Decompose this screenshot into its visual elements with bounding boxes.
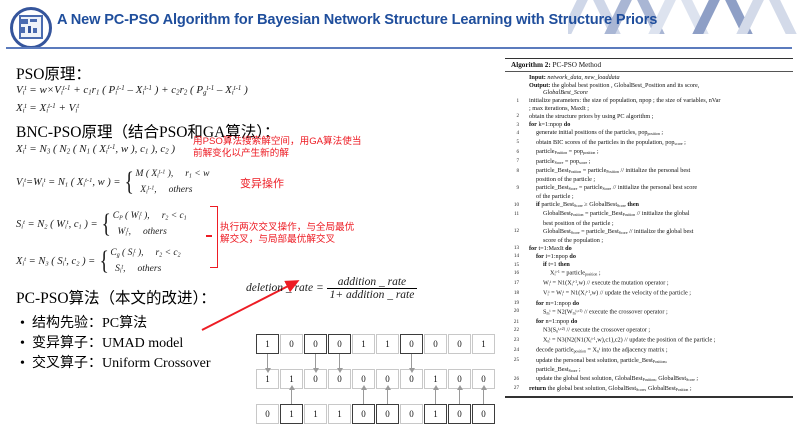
bullet-crossover-operator-label: 交叉算子：Uniform Crossover bbox=[32, 356, 211, 371]
algorithm-line-text: return the global best solution, GlobalB… bbox=[522, 385, 790, 394]
bullet-marker: • bbox=[20, 336, 32, 352]
algorithm-line-text: decode particleposition = Xnt into the a… bbox=[522, 346, 790, 356]
algorithm-line-number: 24 bbox=[508, 346, 522, 354]
algorithm-line: 16Xit-1 = particleposition ; bbox=[508, 269, 790, 279]
bullet-mutation-operator: •变异算子：UMAD model bbox=[20, 332, 183, 352]
algorithm-line-text: obtain BIC scores of the particles in th… bbox=[522, 139, 790, 148]
slide-canvas: A New PC-PSO Algorithm for Bayesian Netw… bbox=[0, 0, 798, 436]
algorithm-line-text: particle_BestScore = particleScore // in… bbox=[522, 184, 790, 193]
algorithm-output-row: Output: the global best position , Globa… bbox=[508, 82, 790, 90]
output-label: Output: bbox=[529, 82, 550, 89]
algorithm-line: 23Xnt = N3(N2(N1(Xit-1,w),c1),c2) // upd… bbox=[508, 336, 790, 346]
annotation-pso-ga-line1: 用PSO算法搜索解空间，用GA算法使当 bbox=[193, 136, 361, 147]
algorithm-line-number: 1 bbox=[508, 97, 522, 105]
algorithm-line: 18Vit = Wit = N1(Xit-1,w) // update the … bbox=[508, 289, 790, 299]
algorithm-line-number bbox=[508, 193, 522, 194]
fraction-numerator: addition _ rate bbox=[327, 276, 418, 288]
algorithm-line-number: 6 bbox=[508, 148, 522, 156]
bit-arrow-down-icon bbox=[339, 354, 340, 369]
bnc-pso-formula: Xit = N3 ( N2 ( N1 ( Xit-1, w ), c1 ), c… bbox=[16, 143, 175, 156]
bit-cell: 0 bbox=[424, 334, 447, 354]
algorithm-line-text: position of the particle ; bbox=[522, 176, 790, 184]
algorithm-line-text: particle_BestPosition = particlePosition… bbox=[522, 167, 790, 176]
bit-cell: 0 bbox=[280, 334, 303, 354]
bit-cell: 0 bbox=[352, 404, 375, 424]
algorithm-title-label: Algorithm 2: bbox=[511, 61, 551, 69]
bit-row-top: 1000110001 bbox=[256, 334, 496, 354]
algorithm-line: 20Smt = N2(Wmt,c1) // execute the crosso… bbox=[508, 308, 790, 318]
algorithm-line-text: for n=1:npop do bbox=[522, 318, 790, 326]
algorithm-line-text: Xnt = N3(N2(N1(Xit-1,w),c1),c2) // updat… bbox=[522, 336, 790, 346]
bit-arrow-up-icon bbox=[435, 389, 436, 404]
bit-row-bottom: 0111000100 bbox=[256, 404, 496, 424]
bit-cell: 1 bbox=[256, 334, 279, 354]
algorithm-line-number: 7 bbox=[508, 158, 522, 166]
algorithm-line-number: 5 bbox=[508, 139, 522, 147]
algorithm-line: 2obtain the structure priors by using PC… bbox=[508, 113, 790, 121]
algorithm-line: best position of the particle ; bbox=[508, 220, 790, 228]
algorithm-line-text: if particle_BestScore ≥ GlobalBestScore … bbox=[522, 201, 790, 210]
algorithm-line-text: particlePosition = popposition ; bbox=[522, 148, 790, 157]
algorithm-line-number: 4 bbox=[508, 129, 522, 137]
algorithm-line: particle_BestScore ; bbox=[508, 366, 790, 375]
output-text: the global best position , GlobalBest_Po… bbox=[550, 82, 699, 89]
algorithm-line-number: 26 bbox=[508, 375, 522, 383]
algorithm-line: 4generate initial positions of the parti… bbox=[508, 129, 790, 138]
algorithm-line-text: Wit = N1(Xit-1,w) // execute the mutatio… bbox=[522, 279, 790, 289]
bit-arrow-up-icon bbox=[363, 389, 364, 404]
bit-cell: 0 bbox=[376, 404, 399, 424]
pso-heading: PSO原理： bbox=[16, 62, 91, 84]
algorithm-line-text: if t=1 then bbox=[522, 261, 790, 269]
bit-cell: 0 bbox=[472, 404, 495, 424]
algorithm-line-text: Smt = N2(Wmt,c1) // execute the crossove… bbox=[522, 308, 790, 318]
pso-velocity-formula: Vit = w×Vit-1 + c1r1 ( Pit-1 – Xit-1 ) +… bbox=[16, 84, 248, 97]
annotation-crossover: 执行两次交叉操作，与全局最优 解交叉，与局部最优解交叉 bbox=[220, 222, 354, 246]
algorithm-line-number: 11 bbox=[508, 210, 522, 218]
bit-cell: 1 bbox=[376, 334, 399, 354]
bullet-structure-prior: •结构先验：PC算法 bbox=[20, 312, 147, 332]
crossover-personal-piecewise-formula: Sit = N2 ( Wit, c1 ) = { CP ( Wit ),r2 <… bbox=[16, 208, 187, 241]
algorithm-line: 25update the personal best solution, par… bbox=[508, 357, 790, 366]
bit-cell: 0 bbox=[448, 404, 471, 424]
algorithm-line: position of the particle ; bbox=[508, 176, 790, 184]
annotation-crossover-line1: 执行两次交叉操作，与全局最优 bbox=[220, 222, 354, 233]
algorithm-title-text: PC-PSO Method bbox=[551, 61, 601, 69]
algorithm-line-text: for m=1:npop do bbox=[522, 300, 790, 308]
algorithm-line-text: for i=1:npop do bbox=[522, 253, 790, 261]
algorithm-line: 11GlobalBestPosition = particle_BestPosi… bbox=[508, 210, 790, 219]
algorithm-line-number: 12 bbox=[508, 228, 522, 236]
algorithm-line-text: score of the population ; bbox=[522, 237, 790, 245]
algorithm-line-number: 9 bbox=[508, 184, 522, 192]
algorithm-line: 7particleScore = popscore ; bbox=[508, 158, 790, 167]
bit-arrow-up-icon bbox=[291, 389, 292, 404]
algorithm-line-number: 23 bbox=[508, 336, 522, 344]
bullet-crossover-operator: •交叉算子：Uniform Crossover bbox=[20, 352, 211, 372]
mutation-piecewise-formula: Vit=Wit = N1 ( Xit-1, w ) = { M ( Xit-1 … bbox=[16, 166, 209, 199]
algorithm-line-text: particleScore = popscore ; bbox=[522, 158, 790, 167]
algorithm-line: 17Wit = N1(Xit-1,w) // execute the mutat… bbox=[508, 279, 790, 289]
algorithm-line-number: 18 bbox=[508, 289, 522, 297]
bit-cell: 1 bbox=[304, 404, 327, 424]
bit-arrow-up-icon bbox=[459, 389, 460, 404]
algorithm-line-number: 19 bbox=[508, 300, 522, 308]
algorithm-line: 3for k=1:npop do bbox=[508, 121, 790, 129]
algorithm-line-number: 8 bbox=[508, 167, 522, 175]
algorithm-line: 1initialize parameters: the size of popu… bbox=[508, 97, 790, 105]
header-divider bbox=[6, 47, 792, 49]
algorithm-line-number: 25 bbox=[508, 357, 522, 365]
algorithm-line-number: 14 bbox=[508, 253, 522, 261]
algorithm-line-text: Vit = Wit = N1(Xit-1,w) // update the ve… bbox=[522, 289, 790, 299]
bullet-mutation-operator-label: 变异算子：UMAD model bbox=[32, 336, 183, 351]
algorithm-line-text: for t=1:MaxIt do bbox=[522, 245, 790, 253]
bit-cell: 1 bbox=[280, 404, 303, 424]
algorithm-line: 19for m=1:npop do bbox=[508, 300, 790, 308]
bit-cell: 0 bbox=[448, 334, 471, 354]
algorithm-line: 8particle_BestPosition = particlePositio… bbox=[508, 167, 790, 176]
algorithm-line: 15if t=1 then bbox=[508, 261, 790, 269]
algorithm-line: 22N3(Snt,c2) // execute the crossover op… bbox=[508, 326, 790, 336]
algorithm-line-text: best position of the particle ; bbox=[522, 220, 790, 228]
algorithm-line-text: generate initial positions of the partic… bbox=[522, 129, 790, 138]
algorithm-line-text: particle_BestScore ; bbox=[522, 366, 790, 375]
institution-logo-icon bbox=[10, 7, 50, 47]
algorithm-line: 9particle_BestScore = particleScore // i… bbox=[508, 184, 790, 193]
algorithm-line-text: update the global best solution, GlobalB… bbox=[522, 375, 790, 384]
bit-cell: 0 bbox=[256, 404, 279, 424]
algorithm-line: 26update the global best solution, Globa… bbox=[508, 375, 790, 384]
grouping-brace-tick bbox=[206, 235, 212, 237]
algorithm-line: 21for n=1:npop do bbox=[508, 318, 790, 326]
algorithm-line: 27return the global best solution, Globa… bbox=[508, 385, 790, 394]
slide-header: A New PC-PSO Algorithm for Bayesian Netw… bbox=[0, 0, 798, 48]
algorithm-line-number: 13 bbox=[508, 245, 522, 253]
bit-cell: 0 bbox=[328, 334, 351, 354]
grouping-brace bbox=[210, 206, 218, 268]
bit-cell: 1 bbox=[352, 334, 375, 354]
algorithm-line: score of the population ; bbox=[508, 237, 790, 245]
deletion-rate-fraction: addition _ rate 1+ addition _ rate bbox=[327, 276, 418, 301]
page-title: A New PC-PSO Algorithm for Bayesian Netw… bbox=[57, 12, 657, 28]
deletion-rate-lhs: deletion _ rate = bbox=[246, 282, 324, 294]
algorithm-line: 24decode particleposition = Xnt into the… bbox=[508, 346, 790, 356]
algorithm-line-text: initialize parameters: the size of popul… bbox=[522, 97, 790, 105]
algorithm-line-number: 17 bbox=[508, 279, 522, 287]
algorithm-line: of the particle ; bbox=[508, 193, 790, 201]
bit-arrow-up-icon bbox=[387, 389, 388, 404]
bit-arrow-down-icon bbox=[411, 354, 412, 369]
algorithm-line-number bbox=[508, 366, 522, 367]
bullet-structure-prior-label: 结构先验：PC算法 bbox=[32, 316, 147, 331]
algorithm-line-text: for k=1:npop do bbox=[522, 121, 790, 129]
algorithm-line-number: 27 bbox=[508, 385, 522, 393]
algorithm-line: 6particlePosition = popposition ; bbox=[508, 148, 790, 157]
bullet-marker: • bbox=[20, 356, 32, 372]
algorithm-box: Algorithm 2: PC-PSO Method Input: networ… bbox=[505, 58, 793, 433]
algorithm-line-text: obtain the structure priors by using PC … bbox=[522, 113, 790, 121]
algorithm-body: Input: network_data, new_loaddata Output… bbox=[505, 72, 793, 394]
algorithm-line-number: 2 bbox=[508, 113, 522, 121]
algorithm-line-text: ; max iterations, MaxIt ; bbox=[522, 105, 790, 113]
algo-bottom-rule bbox=[505, 396, 793, 397]
algorithm-line-number bbox=[508, 237, 522, 238]
algorithm-line-text: GlobalBestPosition = particle_BestPositi… bbox=[522, 210, 790, 219]
algorithm-line-text: update the personal best solution, parti… bbox=[522, 357, 790, 366]
algorithm-line-text: of the particle ; bbox=[522, 193, 790, 201]
fraction-denominator: 1+ addition _ rate bbox=[327, 288, 418, 301]
algorithm-line-number: 15 bbox=[508, 261, 522, 269]
crossover-global-piecewise-formula: Xit = N3 ( Sit, c2 ) = { Cg ( Sit ),r2 <… bbox=[16, 245, 181, 278]
annotation-pso-ga: 用PSO算法搜索解空间，用GA算法使当 前解变化以产生新的解 bbox=[193, 136, 361, 160]
bit-cell: 0 bbox=[400, 334, 423, 354]
bit-cell: 0 bbox=[400, 404, 423, 424]
algorithm-input-row: Input: network_data, new_loaddata bbox=[508, 74, 790, 82]
algorithm-line-number: 22 bbox=[508, 326, 522, 334]
pso-position-formula: Xit = Xit-1 + Vit bbox=[16, 102, 79, 115]
algorithm-line-number: 16 bbox=[508, 269, 522, 277]
bit-cell: 1 bbox=[328, 404, 351, 424]
algorithm-line-number bbox=[508, 176, 522, 177]
algorithm-line: 12GlobalBestScore = particle_BestScore /… bbox=[508, 228, 790, 237]
algorithm-line-text: N3(Snt,c2) // execute the crossover oper… bbox=[522, 326, 790, 336]
pc-pso-heading: PC-PSO算法（本文的改进）： bbox=[16, 286, 216, 308]
annotation-crossover-line2: 解交叉，与局部最优解交叉 bbox=[220, 234, 335, 245]
algorithm-line-number: 21 bbox=[508, 318, 522, 326]
deletion-rate-formula: deletion _ rate = addition _ rate 1+ add… bbox=[246, 276, 417, 301]
algorithm-output-row-2: GlobalBest_Score bbox=[508, 89, 790, 97]
algorithm-line-text: GlobalBestScore = particle_BestScore // … bbox=[522, 228, 790, 237]
algorithm-line: 14for i=1:npop do bbox=[508, 253, 790, 261]
bullet-marker: • bbox=[20, 316, 32, 332]
algorithm-line-number: 10 bbox=[508, 201, 522, 209]
output-text-2: GlobalBest_Score bbox=[522, 89, 790, 97]
input-label: Input: bbox=[529, 74, 546, 81]
algorithm-line-number bbox=[508, 220, 522, 221]
algorithm-line: 5obtain BIC scores of the particles in t… bbox=[508, 139, 790, 148]
algorithm-line: 10if particle_BestScore ≥ GlobalBestScor… bbox=[508, 201, 790, 210]
annotation-mutation: 变异操作 bbox=[240, 178, 284, 190]
algorithm-title: Algorithm 2: PC-PSO Method bbox=[505, 59, 793, 71]
bit-arrow-down-icon bbox=[267, 354, 268, 369]
bit-arrow-up-icon bbox=[483, 389, 484, 404]
bit-cell: 1 bbox=[472, 334, 495, 354]
algorithm-line: ; max iterations, MaxIt ; bbox=[508, 105, 790, 113]
annotation-pso-ga-line2: 前解变化以产生新的解 bbox=[193, 148, 289, 159]
bit-cell: 0 bbox=[304, 334, 327, 354]
bit-arrow-down-icon bbox=[315, 354, 316, 369]
algorithm-line-number: 3 bbox=[508, 121, 522, 129]
input-text: network_data, new_loaddata bbox=[546, 74, 620, 81]
algorithm-line-number: 20 bbox=[508, 308, 522, 316]
algorithm-line-text: Xit-1 = particleposition ; bbox=[522, 269, 790, 279]
algorithm-line-number bbox=[508, 105, 522, 106]
bit-cell: 1 bbox=[424, 404, 447, 424]
algorithm-line: 13for t=1:MaxIt do bbox=[508, 245, 790, 253]
